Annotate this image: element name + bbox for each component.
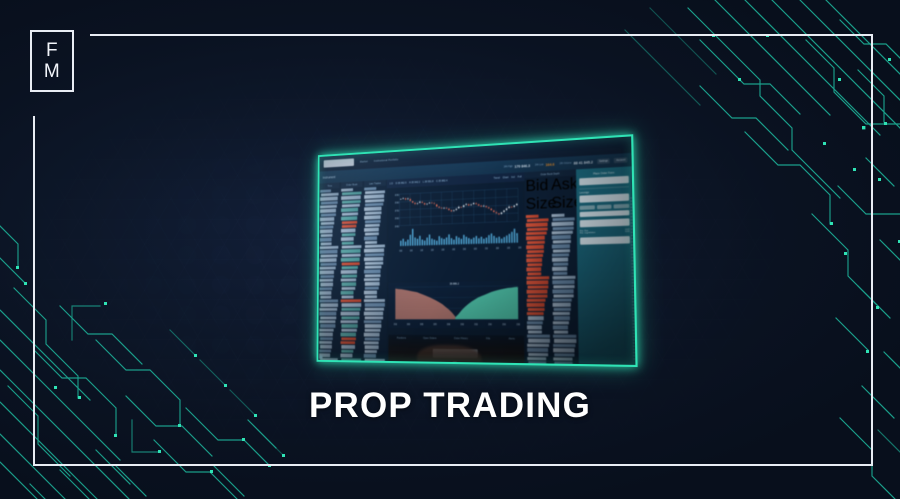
data-cell bbox=[341, 329, 357, 332]
order-entry-sidebar: Place Order Form Leverage bbox=[576, 166, 635, 365]
data-cell bbox=[320, 271, 335, 274]
data-cell bbox=[365, 232, 379, 236]
svg-text:35 830: 35 830 bbox=[407, 324, 410, 327]
svg-text:35 870: 35 870 bbox=[433, 324, 436, 327]
data-cell bbox=[528, 339, 550, 343]
empty-folder-icon bbox=[452, 362, 457, 365]
data-cell bbox=[552, 253, 569, 257]
data-cell bbox=[365, 303, 385, 306]
data-cell bbox=[320, 275, 334, 278]
data-cell bbox=[553, 285, 574, 289]
data-cell bbox=[341, 337, 356, 340]
svg-text:20:00: 20:00 bbox=[518, 247, 521, 250]
data-cell bbox=[341, 249, 360, 253]
svg-text:12:00: 12:00 bbox=[431, 249, 434, 252]
data-cell bbox=[526, 281, 548, 285]
data-cell bbox=[527, 303, 545, 307]
data-cell bbox=[527, 254, 543, 258]
data-cell bbox=[528, 330, 542, 334]
column-header: Bid Size bbox=[525, 177, 549, 214]
data-cell bbox=[364, 236, 377, 240]
summary-liq-value: 0.00 bbox=[625, 231, 630, 233]
data-cell bbox=[552, 244, 570, 248]
column-header: Ask Size bbox=[551, 176, 576, 214]
data-cell bbox=[527, 285, 548, 289]
data-cell bbox=[341, 188, 353, 192]
data-cell bbox=[320, 324, 335, 327]
left-col-3-cells bbox=[363, 186, 385, 365]
data-cell bbox=[552, 235, 572, 239]
quote-low-value: 164.6 bbox=[545, 162, 554, 167]
svg-text:09:00: 09:00 bbox=[400, 250, 403, 253]
data-cell bbox=[526, 232, 546, 236]
order-type-option-3[interactable] bbox=[614, 204, 629, 209]
market-depth-chart[interactable]: 35 81035 83035 85035 87035 88635 90035 9… bbox=[388, 281, 524, 329]
quote-volume-value: 88 41 845.2 bbox=[574, 160, 593, 165]
data-cell bbox=[320, 308, 337, 311]
data-cell bbox=[553, 262, 568, 266]
data-cell bbox=[526, 236, 545, 240]
data-cell bbox=[319, 362, 337, 365]
price-field[interactable] bbox=[579, 193, 629, 202]
chart-interval[interactable]: 1 D bbox=[389, 182, 392, 185]
data-cell bbox=[341, 287, 355, 290]
data-cell bbox=[553, 335, 576, 339]
data-cell bbox=[320, 320, 336, 323]
data-cell bbox=[342, 283, 356, 286]
data-cell bbox=[342, 241, 354, 245]
data-cell bbox=[320, 250, 338, 254]
data-cell bbox=[364, 362, 384, 364]
quote-volume: 24h Volume 88 41 845.2 bbox=[559, 160, 593, 166]
data-cell bbox=[319, 333, 333, 336]
data-cell bbox=[341, 274, 357, 277]
data-cell bbox=[364, 265, 381, 269]
data-cell bbox=[528, 294, 548, 298]
data-cell bbox=[342, 233, 355, 237]
data-cell bbox=[528, 357, 547, 361]
svg-text:11:00: 11:00 bbox=[420, 250, 423, 253]
data-cell bbox=[527, 272, 541, 276]
data-cell bbox=[341, 362, 360, 365]
data-cell bbox=[341, 278, 356, 281]
data-cell bbox=[320, 225, 333, 229]
data-cell bbox=[364, 354, 376, 357]
divider bbox=[579, 186, 629, 189]
data-cell bbox=[527, 290, 547, 294]
data-cell bbox=[320, 189, 331, 193]
frame-border-bottom bbox=[33, 464, 873, 466]
data-cell bbox=[320, 304, 338, 307]
data-cell bbox=[554, 362, 573, 365]
svg-text:10:00: 10:00 bbox=[410, 250, 413, 253]
data-cell bbox=[364, 291, 377, 294]
data-cell bbox=[320, 287, 332, 290]
summary-liq-key: Est. Liquidation bbox=[580, 232, 595, 235]
data-cell bbox=[320, 234, 332, 238]
left-column-trades[interactable]: Last Trades bbox=[363, 180, 387, 361]
svg-text:35 886: 35 886 bbox=[447, 324, 450, 327]
data-cell bbox=[552, 231, 572, 235]
data-cell bbox=[364, 337, 379, 340]
extra-field[interactable] bbox=[580, 218, 630, 227]
chart-ohlc-close: C 35 882.4 bbox=[436, 179, 447, 182]
data-cell bbox=[320, 316, 336, 319]
data-cell bbox=[553, 271, 567, 275]
svg-text:17:00: 17:00 bbox=[485, 248, 488, 251]
quote-low: 24h Low 164.6 bbox=[535, 162, 554, 167]
data-cell bbox=[552, 280, 574, 284]
data-cell bbox=[320, 258, 336, 262]
quote-high-label: 24h High bbox=[504, 165, 513, 167]
right-col-1-cells bbox=[526, 213, 553, 365]
data-cell bbox=[364, 320, 382, 323]
data-cell bbox=[341, 303, 361, 306]
order-type-toggle[interactable] bbox=[580, 204, 630, 210]
data-cell bbox=[553, 226, 574, 230]
data-cell bbox=[527, 249, 544, 253]
logo-letter-f: F bbox=[46, 41, 58, 60]
amount-field[interactable] bbox=[579, 176, 629, 186]
data-cell bbox=[364, 312, 383, 315]
data-cell bbox=[341, 196, 360, 200]
data-cell bbox=[341, 229, 355, 233]
empty-state: No Data bbox=[450, 362, 459, 365]
data-cell bbox=[365, 274, 381, 278]
data-cell bbox=[527, 335, 550, 339]
svg-text:13:00: 13:00 bbox=[441, 249, 444, 252]
data-cell bbox=[341, 270, 357, 274]
data-cell bbox=[364, 299, 385, 302]
data-cell bbox=[527, 241, 546, 245]
data-cell bbox=[364, 249, 384, 253]
data-cell bbox=[320, 329, 334, 332]
menu-item-market[interactable]: Market bbox=[360, 160, 368, 163]
left-column-time[interactable]: Time bbox=[318, 182, 340, 360]
data-cell bbox=[553, 289, 574, 293]
data-cell bbox=[341, 291, 354, 294]
svg-text:35 960: 35 960 bbox=[502, 324, 505, 327]
quote-high-value: 170 846.3 bbox=[515, 163, 531, 168]
account-button[interactable]: Account bbox=[614, 157, 627, 163]
terminal-screen: Market Institutional Portfolio Instrumen… bbox=[318, 136, 635, 364]
data-cell bbox=[364, 257, 383, 261]
svg-text:35 940: 35 940 bbox=[488, 324, 491, 327]
data-cell bbox=[365, 324, 382, 327]
data-cell bbox=[341, 341, 355, 344]
data-cell bbox=[320, 349, 331, 352]
chart-tool-ind[interactable]: Ind bbox=[511, 176, 514, 179]
data-cell bbox=[341, 245, 361, 249]
svg-text:35 600.0: 35 600.0 bbox=[395, 218, 399, 221]
data-cell bbox=[340, 354, 352, 357]
data-cell bbox=[341, 253, 360, 257]
data-cell bbox=[364, 278, 379, 281]
data-cell bbox=[527, 308, 544, 312]
data-cell bbox=[527, 299, 546, 303]
order-type-option-1[interactable] bbox=[580, 205, 595, 210]
fm-logo: F M bbox=[30, 30, 74, 92]
svg-text:16:00: 16:00 bbox=[474, 248, 477, 251]
chart-tool-full[interactable]: Full bbox=[518, 175, 522, 178]
data-cell bbox=[320, 299, 338, 302]
left-data-panel: Time Order Book Last Trades bbox=[318, 180, 387, 361]
data-cell bbox=[364, 333, 380, 336]
data-cell bbox=[365, 224, 380, 228]
data-cell bbox=[341, 316, 359, 319]
data-cell bbox=[552, 267, 567, 271]
data-cell bbox=[341, 324, 358, 327]
svg-text:35 810: 35 810 bbox=[394, 324, 397, 327]
summary-liq: Est. Liquidation 0.00 bbox=[580, 231, 630, 235]
data-cell bbox=[527, 326, 542, 330]
data-cell bbox=[554, 339, 576, 343]
data-cell bbox=[342, 262, 360, 266]
data-cell bbox=[553, 348, 574, 352]
data-cell bbox=[320, 283, 333, 286]
svg-text:35 450.0: 35 450.0 bbox=[395, 226, 399, 229]
data-cell bbox=[527, 267, 541, 271]
data-cell bbox=[526, 258, 542, 262]
data-cell bbox=[554, 330, 568, 334]
logo-letter-m: M bbox=[44, 62, 60, 81]
data-cell bbox=[340, 333, 355, 336]
data-cell bbox=[552, 258, 568, 262]
data-cell bbox=[365, 346, 379, 349]
right-col-2-cells bbox=[551, 212, 579, 365]
data-cell bbox=[364, 215, 380, 219]
banner-canvas: F M Market Institutional Portfolio Instr… bbox=[0, 0, 900, 499]
data-cell bbox=[341, 308, 360, 311]
orders-panel: Positions Open Orders Order History Fill… bbox=[388, 335, 524, 363]
data-cell bbox=[364, 308, 384, 311]
data-cell bbox=[320, 230, 333, 234]
data-cell bbox=[553, 326, 568, 330]
svg-text:35 900.0: 35 900.0 bbox=[395, 202, 399, 205]
data-cell bbox=[528, 362, 546, 365]
data-cell bbox=[551, 213, 565, 217]
data-cell bbox=[364, 341, 378, 344]
svg-text:35 850: 35 850 bbox=[420, 324, 423, 327]
data-cell bbox=[320, 197, 337, 201]
svg-text:36 050.0: 36 050.0 bbox=[395, 194, 399, 197]
left-col-2-cells bbox=[340, 187, 363, 365]
data-cell bbox=[526, 245, 544, 249]
data-cell bbox=[526, 223, 547, 227]
data-cell bbox=[527, 348, 548, 352]
order-book-panel: Order Book Depth Bid Size Ask Size bbox=[524, 169, 578, 364]
left-column-orderbook[interactable]: Order Book bbox=[340, 181, 364, 360]
data-cell bbox=[319, 341, 332, 344]
data-cell bbox=[320, 217, 334, 221]
data-cell bbox=[319, 312, 336, 315]
menu-item-institutional[interactable]: Institutional Portfolio bbox=[374, 158, 398, 162]
svg-text:18:00: 18:00 bbox=[496, 248, 499, 251]
data-cell bbox=[553, 303, 571, 307]
data-cell bbox=[365, 261, 383, 265]
data-cell bbox=[527, 276, 549, 280]
data-cell bbox=[364, 287, 378, 290]
total-field[interactable] bbox=[580, 210, 630, 217]
data-cell bbox=[320, 262, 336, 266]
data-cell bbox=[528, 353, 548, 357]
quote-high: 24h High 170 846.3 bbox=[504, 163, 530, 168]
data-cell bbox=[320, 345, 332, 348]
data-cell bbox=[364, 244, 385, 248]
data-cell bbox=[341, 320, 358, 323]
quote-volume-label: 24h Volume bbox=[559, 162, 571, 165]
svg-text:35 920: 35 920 bbox=[474, 324, 477, 327]
data-cell bbox=[365, 240, 377, 244]
data-cell bbox=[554, 317, 570, 321]
data-cell bbox=[321, 242, 332, 245]
data-cell bbox=[553, 276, 576, 280]
svg-text:15:00: 15:00 bbox=[463, 249, 466, 252]
data-cell bbox=[341, 225, 356, 229]
data-cell bbox=[364, 270, 381, 274]
chart-tool-chart[interactable]: Chart bbox=[503, 176, 509, 179]
data-cell bbox=[364, 358, 384, 362]
data-cell bbox=[364, 329, 380, 332]
settings-button[interactable]: Settings bbox=[597, 158, 610, 164]
svg-text:35 900: 35 900 bbox=[461, 324, 464, 327]
page-title: PROP TRADING bbox=[0, 386, 900, 426]
data-cell bbox=[553, 298, 572, 302]
data-cell bbox=[553, 240, 572, 244]
search-input[interactable] bbox=[324, 158, 354, 167]
data-cell bbox=[553, 312, 570, 316]
left-col-1-cells bbox=[319, 188, 340, 365]
submit-order-button[interactable] bbox=[580, 236, 630, 245]
data-cell bbox=[364, 316, 382, 319]
svg-text:19:00: 19:00 bbox=[507, 247, 510, 250]
data-cell bbox=[527, 263, 542, 267]
data-cell bbox=[528, 317, 544, 320]
data-cell bbox=[341, 345, 354, 348]
data-cell bbox=[320, 279, 334, 282]
price-chart[interactable]: 36 050.035 900.035 750.035 600.035 450.0… bbox=[388, 182, 523, 281]
data-cell bbox=[320, 238, 332, 242]
data-cell bbox=[527, 312, 544, 316]
data-cell bbox=[554, 353, 574, 357]
frame-border-top bbox=[90, 34, 873, 36]
quote-low-label: 24h Low bbox=[535, 164, 544, 166]
data-cell bbox=[552, 222, 574, 226]
instrument-label: Instrument bbox=[323, 175, 336, 179]
trading-terminal-image: Market Institutional Portfolio Instrumen… bbox=[292, 138, 638, 368]
data-cell bbox=[527, 227, 548, 231]
data-cell bbox=[365, 295, 378, 298]
data-cell bbox=[341, 349, 354, 352]
chart-ohlc-high: H 35 942.2 bbox=[409, 181, 420, 184]
depth-mid-price: 35 886.2 bbox=[450, 283, 459, 286]
data-cell bbox=[341, 295, 353, 298]
data-cell bbox=[320, 209, 336, 213]
data-cell bbox=[365, 282, 380, 285]
data-cell bbox=[364, 187, 376, 191]
data-cell bbox=[528, 344, 549, 348]
data-cell bbox=[553, 357, 573, 361]
chart-tool-trend[interactable]: Trend bbox=[494, 177, 500, 180]
data-cell bbox=[553, 307, 571, 311]
data-cell bbox=[553, 294, 573, 298]
data-cell bbox=[365, 253, 384, 257]
data-cell bbox=[341, 299, 361, 302]
data-cell bbox=[341, 216, 357, 220]
data-cell bbox=[320, 291, 332, 294]
hand-silhouette bbox=[388, 336, 524, 363]
svg-text:35 750.0: 35 750.0 bbox=[395, 210, 399, 213]
data-cell bbox=[341, 312, 360, 315]
data-cell bbox=[341, 258, 359, 262]
data-cell bbox=[320, 337, 333, 340]
chart-area: 1 D O 35 862.5 H 35 942.2 L 35 551.8 C 3… bbox=[387, 172, 527, 363]
chart-ohlc-low: L 35 551.8 bbox=[423, 180, 434, 183]
chart-ohlc-open: O 35 862.5 bbox=[395, 182, 406, 185]
terminal-body: Time Order Book Last Trades bbox=[318, 166, 635, 365]
data-cell bbox=[364, 194, 384, 198]
data-cell bbox=[553, 249, 570, 253]
data-cell bbox=[320, 266, 335, 269]
data-cell bbox=[341, 237, 354, 241]
order-type-option-2[interactable] bbox=[597, 205, 612, 210]
data-cell bbox=[527, 321, 542, 324]
data-cell bbox=[320, 254, 337, 258]
data-cell bbox=[341, 266, 358, 270]
expand-icon[interactable] bbox=[319, 355, 322, 359]
data-cell bbox=[364, 228, 378, 232]
svg-text:14:00: 14:00 bbox=[452, 249, 455, 252]
data-cell bbox=[320, 295, 331, 298]
data-cell bbox=[526, 214, 539, 218]
data-cell bbox=[553, 321, 569, 325]
svg-text:35 980: 35 980 bbox=[517, 324, 520, 327]
data-cell bbox=[341, 358, 361, 362]
data-cell bbox=[554, 344, 576, 348]
data-cell bbox=[320, 246, 338, 250]
data-cell bbox=[364, 350, 377, 353]
